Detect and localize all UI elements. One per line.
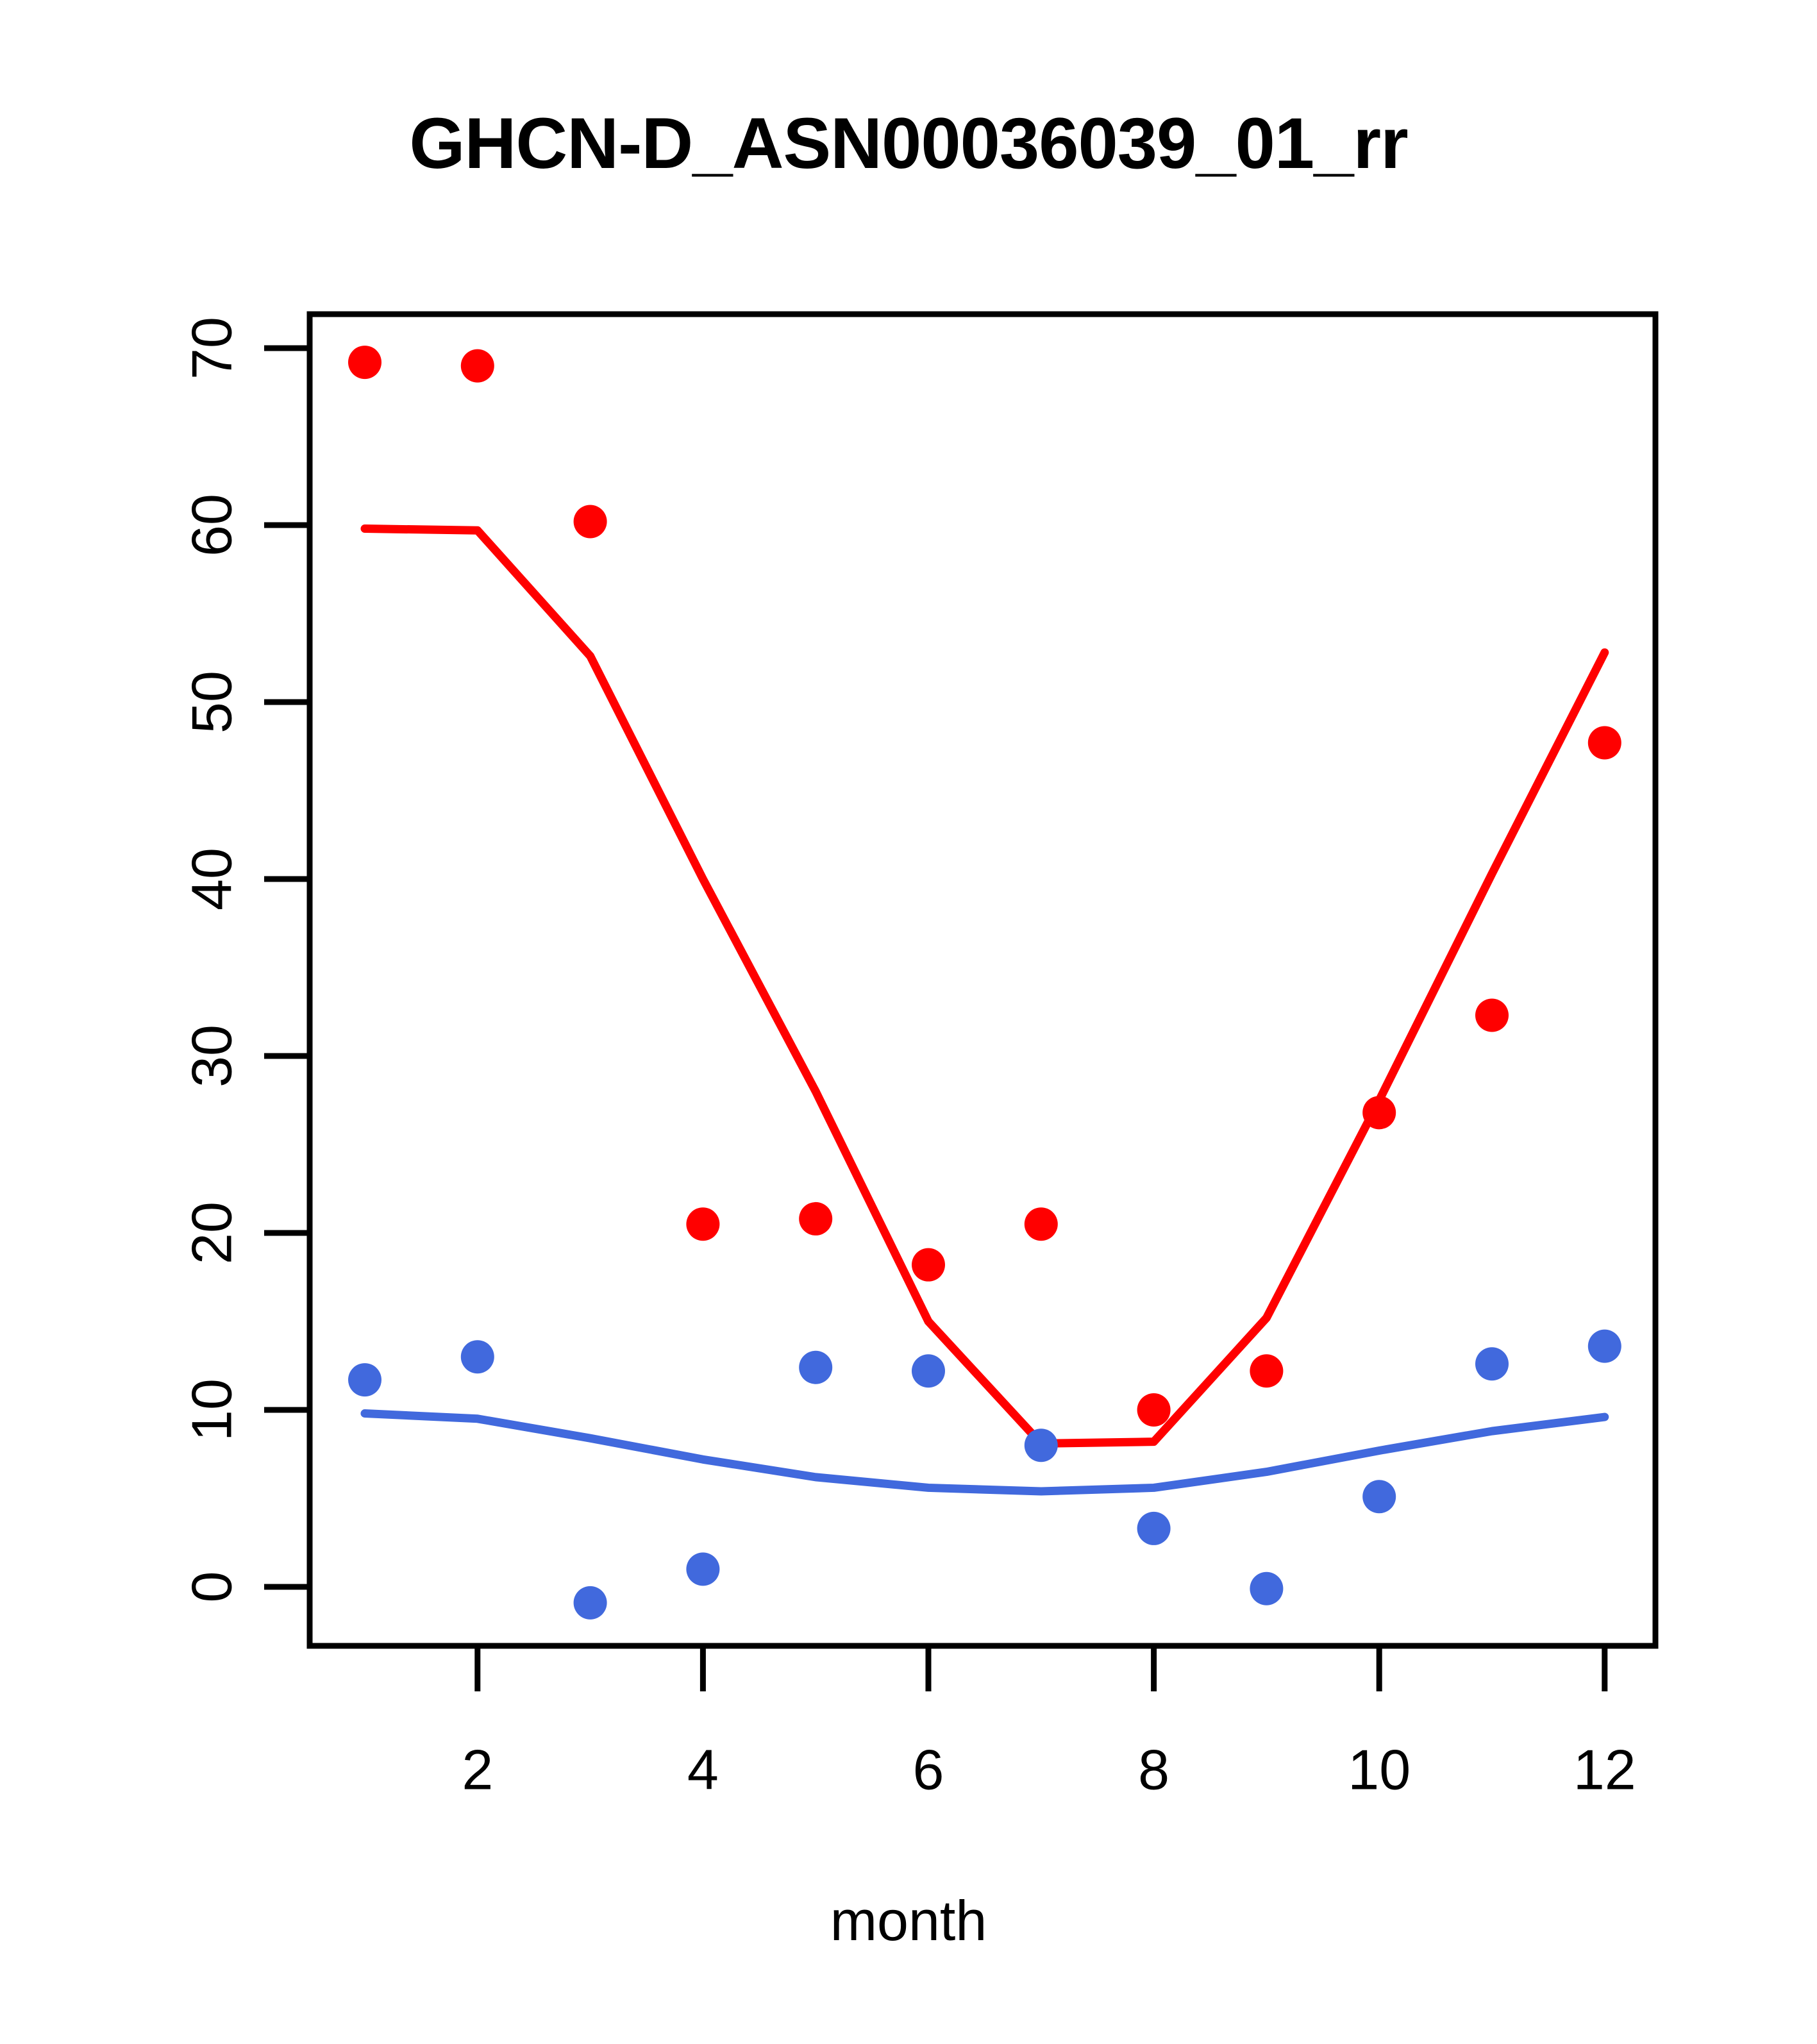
y-tick-label: 50 [180, 671, 244, 733]
data-point [912, 1248, 945, 1282]
red-line [365, 529, 1605, 1444]
data-point [1250, 1572, 1283, 1605]
x-tick-label: 4 [687, 1738, 719, 1802]
data-point [686, 1552, 719, 1586]
data-point [1362, 1096, 1396, 1129]
data-point [348, 346, 381, 379]
data-point [799, 1351, 832, 1384]
data-point [1025, 1428, 1058, 1462]
red-points [348, 346, 1621, 1427]
data-point [799, 1202, 832, 1236]
y-tick-label: 70 [180, 317, 244, 380]
x-axis-label: month [0, 1893, 1817, 1949]
data-point [461, 1340, 494, 1373]
data-point [1475, 999, 1509, 1032]
data-point [686, 1207, 719, 1241]
x-axis-ticks: 24681012 [462, 1646, 1636, 1802]
plot-root: GHCN-D_ASN00036039_01_rr 010203040506070… [0, 0, 1817, 2044]
data-point [574, 505, 607, 538]
y-tick-label: 20 [180, 1202, 244, 1264]
y-tick-label: 10 [180, 1378, 244, 1441]
data-point [1137, 1512, 1171, 1545]
data-point [1362, 1480, 1396, 1513]
data-point [461, 349, 494, 383]
plot-frame [310, 314, 1655, 1646]
data-point [574, 1586, 607, 1620]
x-tick-label: 10 [1348, 1738, 1411, 1802]
y-tick-label: 40 [180, 848, 244, 910]
data-point [1588, 726, 1621, 759]
data-point [1025, 1207, 1058, 1241]
data-point [1250, 1354, 1283, 1387]
data-point [1137, 1393, 1171, 1427]
x-tick-label: 8 [1138, 1738, 1169, 1802]
y-axis-ticks: 010203040506070 [180, 317, 310, 1602]
y-tick-label: 60 [180, 494, 244, 557]
data-point [1588, 1330, 1621, 1363]
data-series-group [348, 346, 1621, 1620]
axis-group: 010203040506070 24681012 [180, 314, 1656, 1802]
blue-line [365, 1414, 1605, 1491]
plot-canvas: 010203040506070 24681012 [0, 0, 1817, 2044]
data-point [912, 1354, 945, 1387]
y-tick-label: 0 [180, 1571, 244, 1603]
blue-points [348, 1330, 1621, 1620]
x-tick-label: 12 [1573, 1738, 1636, 1802]
y-tick-label: 30 [180, 1025, 244, 1087]
data-point [1475, 1347, 1509, 1380]
data-point [348, 1363, 381, 1396]
x-tick-label: 6 [913, 1738, 944, 1802]
x-tick-label: 2 [462, 1738, 493, 1802]
